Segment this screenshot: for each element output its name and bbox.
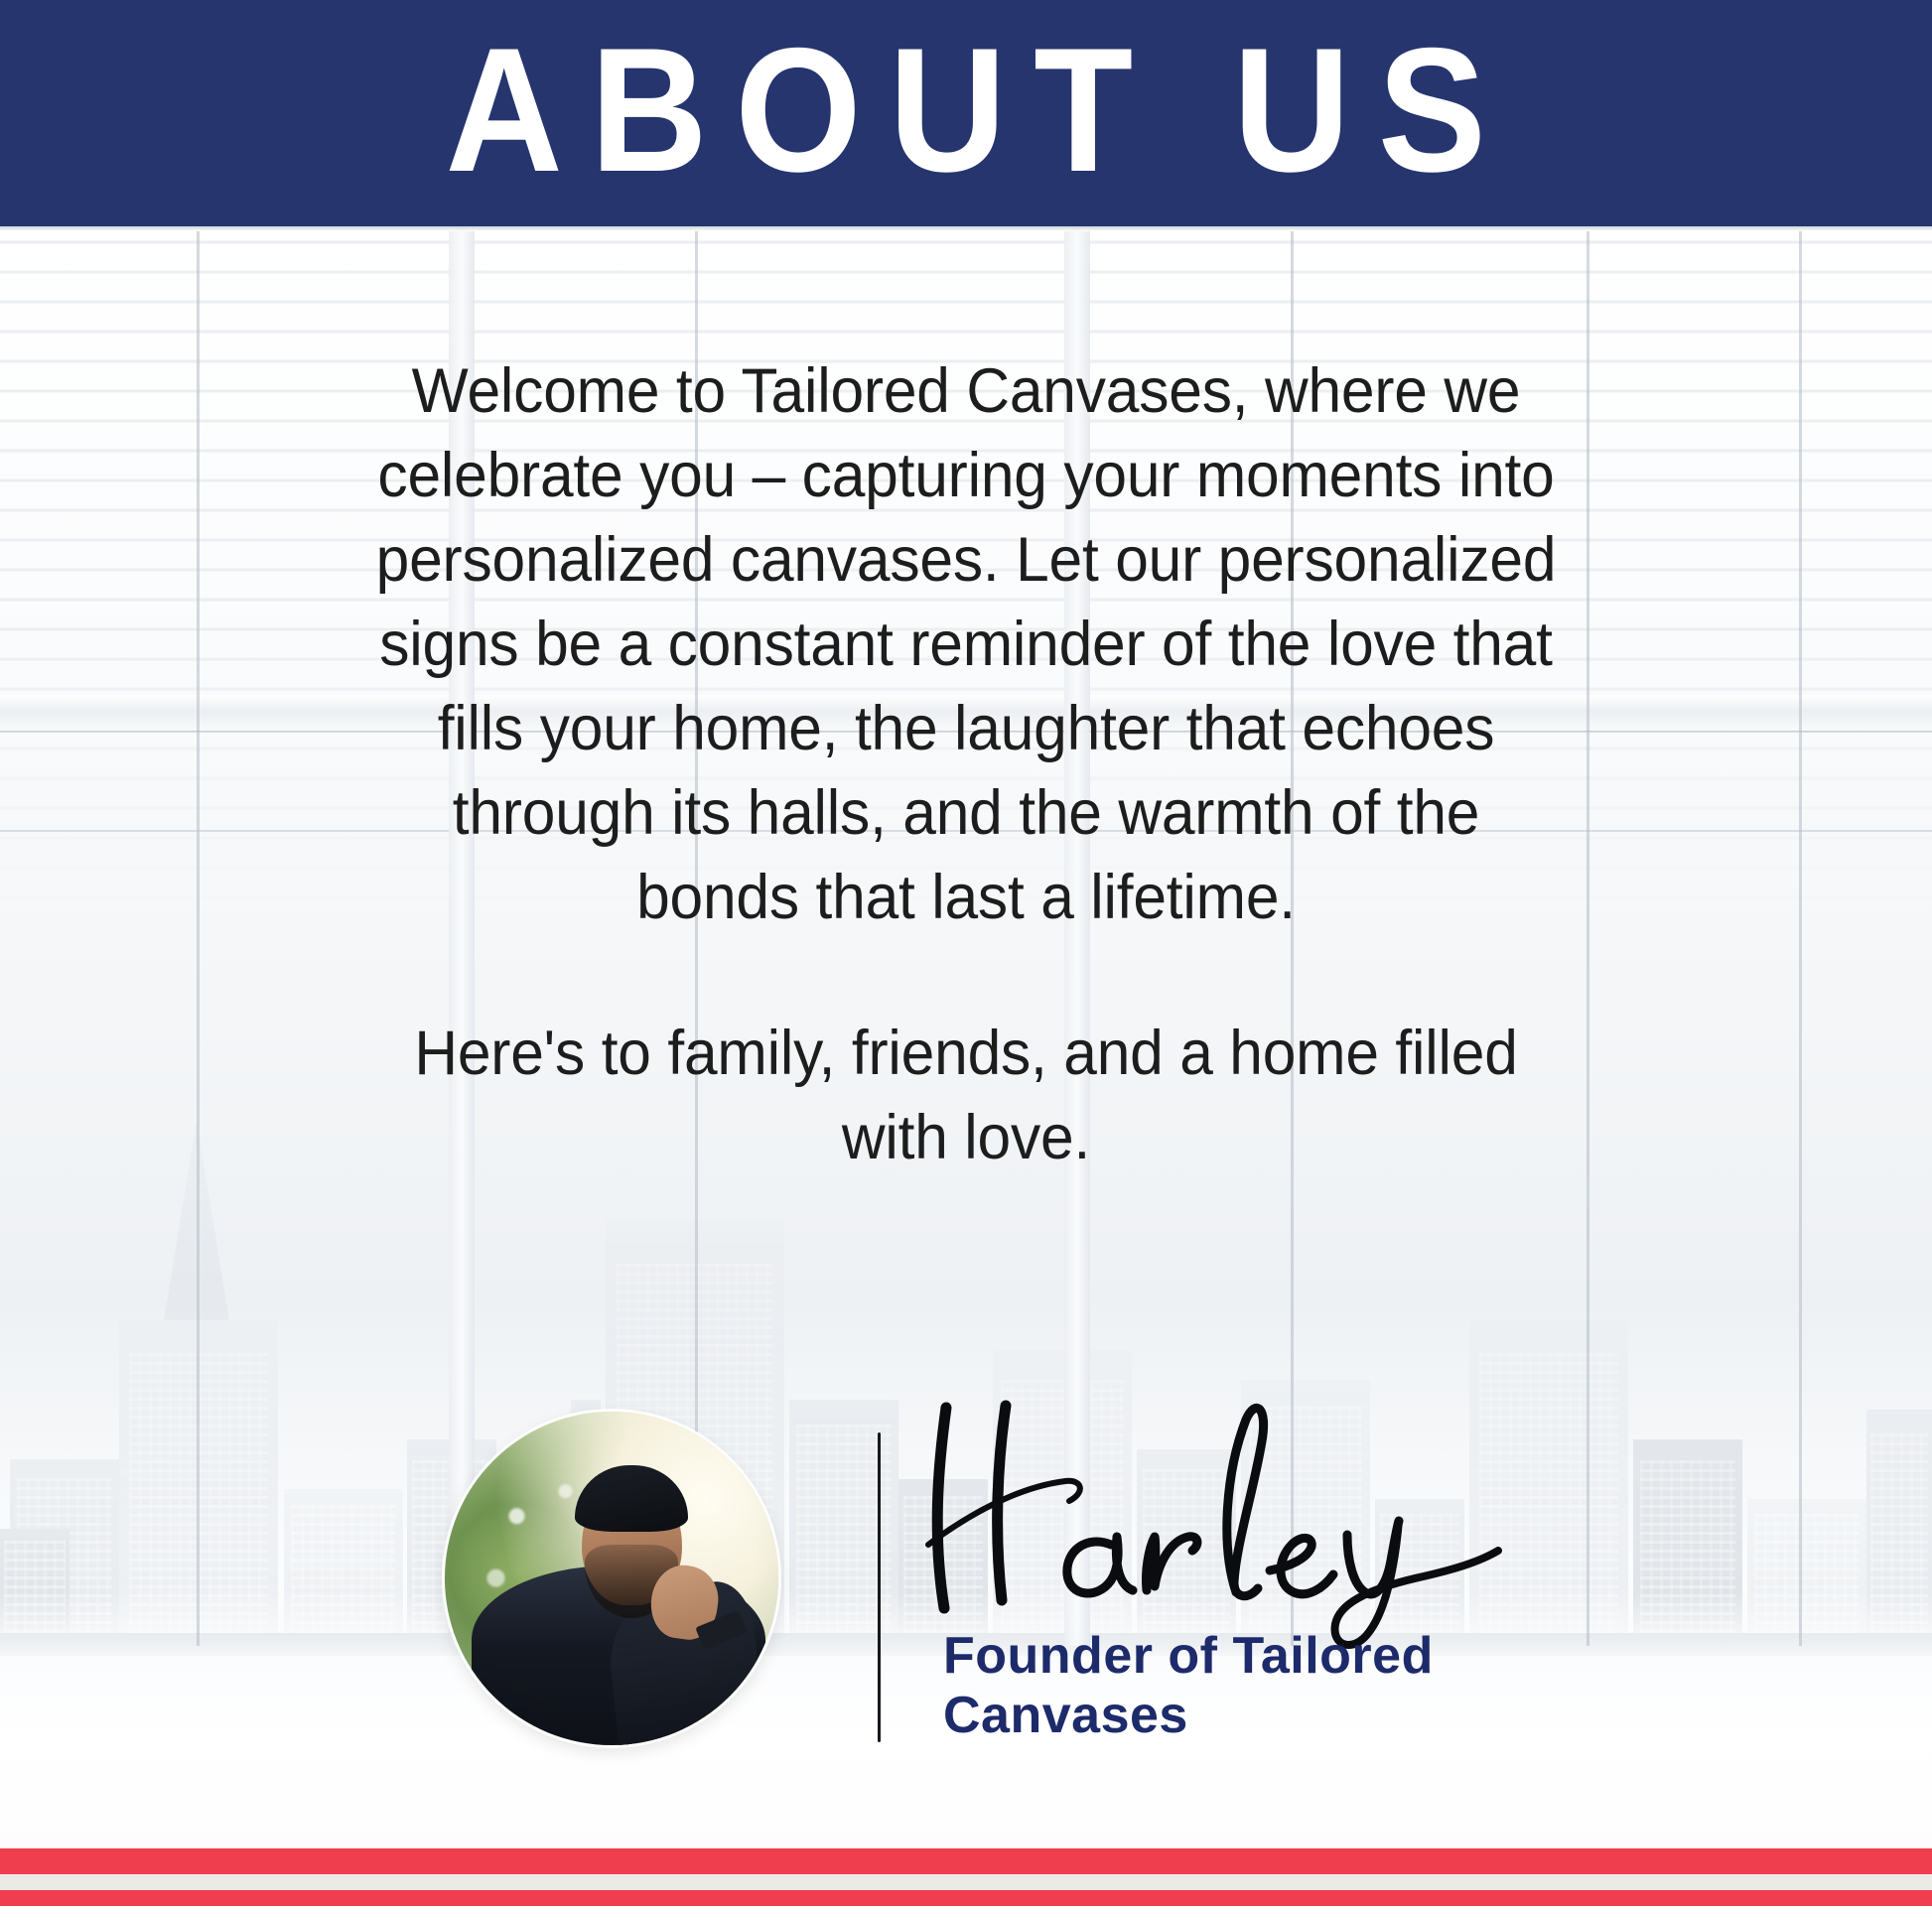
footer-stripe-top: [0, 1848, 1932, 1874]
about-paragraph-2: Here's to family, friends, and a home fi…: [370, 1012, 1562, 1180]
signature-harley: [898, 1396, 1514, 1644]
about-us-header-bar: ABOUT US: [0, 0, 1932, 226]
building: [0, 1529, 69, 1648]
footer-stripe-gap: [0, 1874, 1932, 1890]
founder-title-line-2: Canvases: [943, 1686, 1579, 1745]
avatar-vignette: [445, 1412, 778, 1745]
building: [789, 1400, 898, 1648]
about-us-card: ABOUT US Welcome to Tailored Canvases, w…: [0, 0, 1932, 1906]
founder-title: Founder of Tailored Canvases: [943, 1626, 1579, 1745]
page-title: ABOUT US: [418, 22, 1514, 199]
signature-divider: [878, 1432, 881, 1742]
avatar: [445, 1412, 778, 1745]
paragraph-spacer: [0, 940, 1932, 1012]
building: [1866, 1410, 1932, 1648]
building: [284, 1489, 403, 1648]
building: [1633, 1439, 1742, 1648]
about-paragraph-1: Welcome to Tailored Canvases, where we c…: [370, 349, 1562, 940]
founder-title-line-1: Founder of Tailored: [943, 1626, 1579, 1686]
footer-stripe-bottom: [0, 1890, 1932, 1906]
about-us-body: Welcome to Tailored Canvases, where we c…: [0, 349, 1932, 1180]
building: [1747, 1499, 1866, 1648]
header-underline: [0, 226, 1932, 231]
